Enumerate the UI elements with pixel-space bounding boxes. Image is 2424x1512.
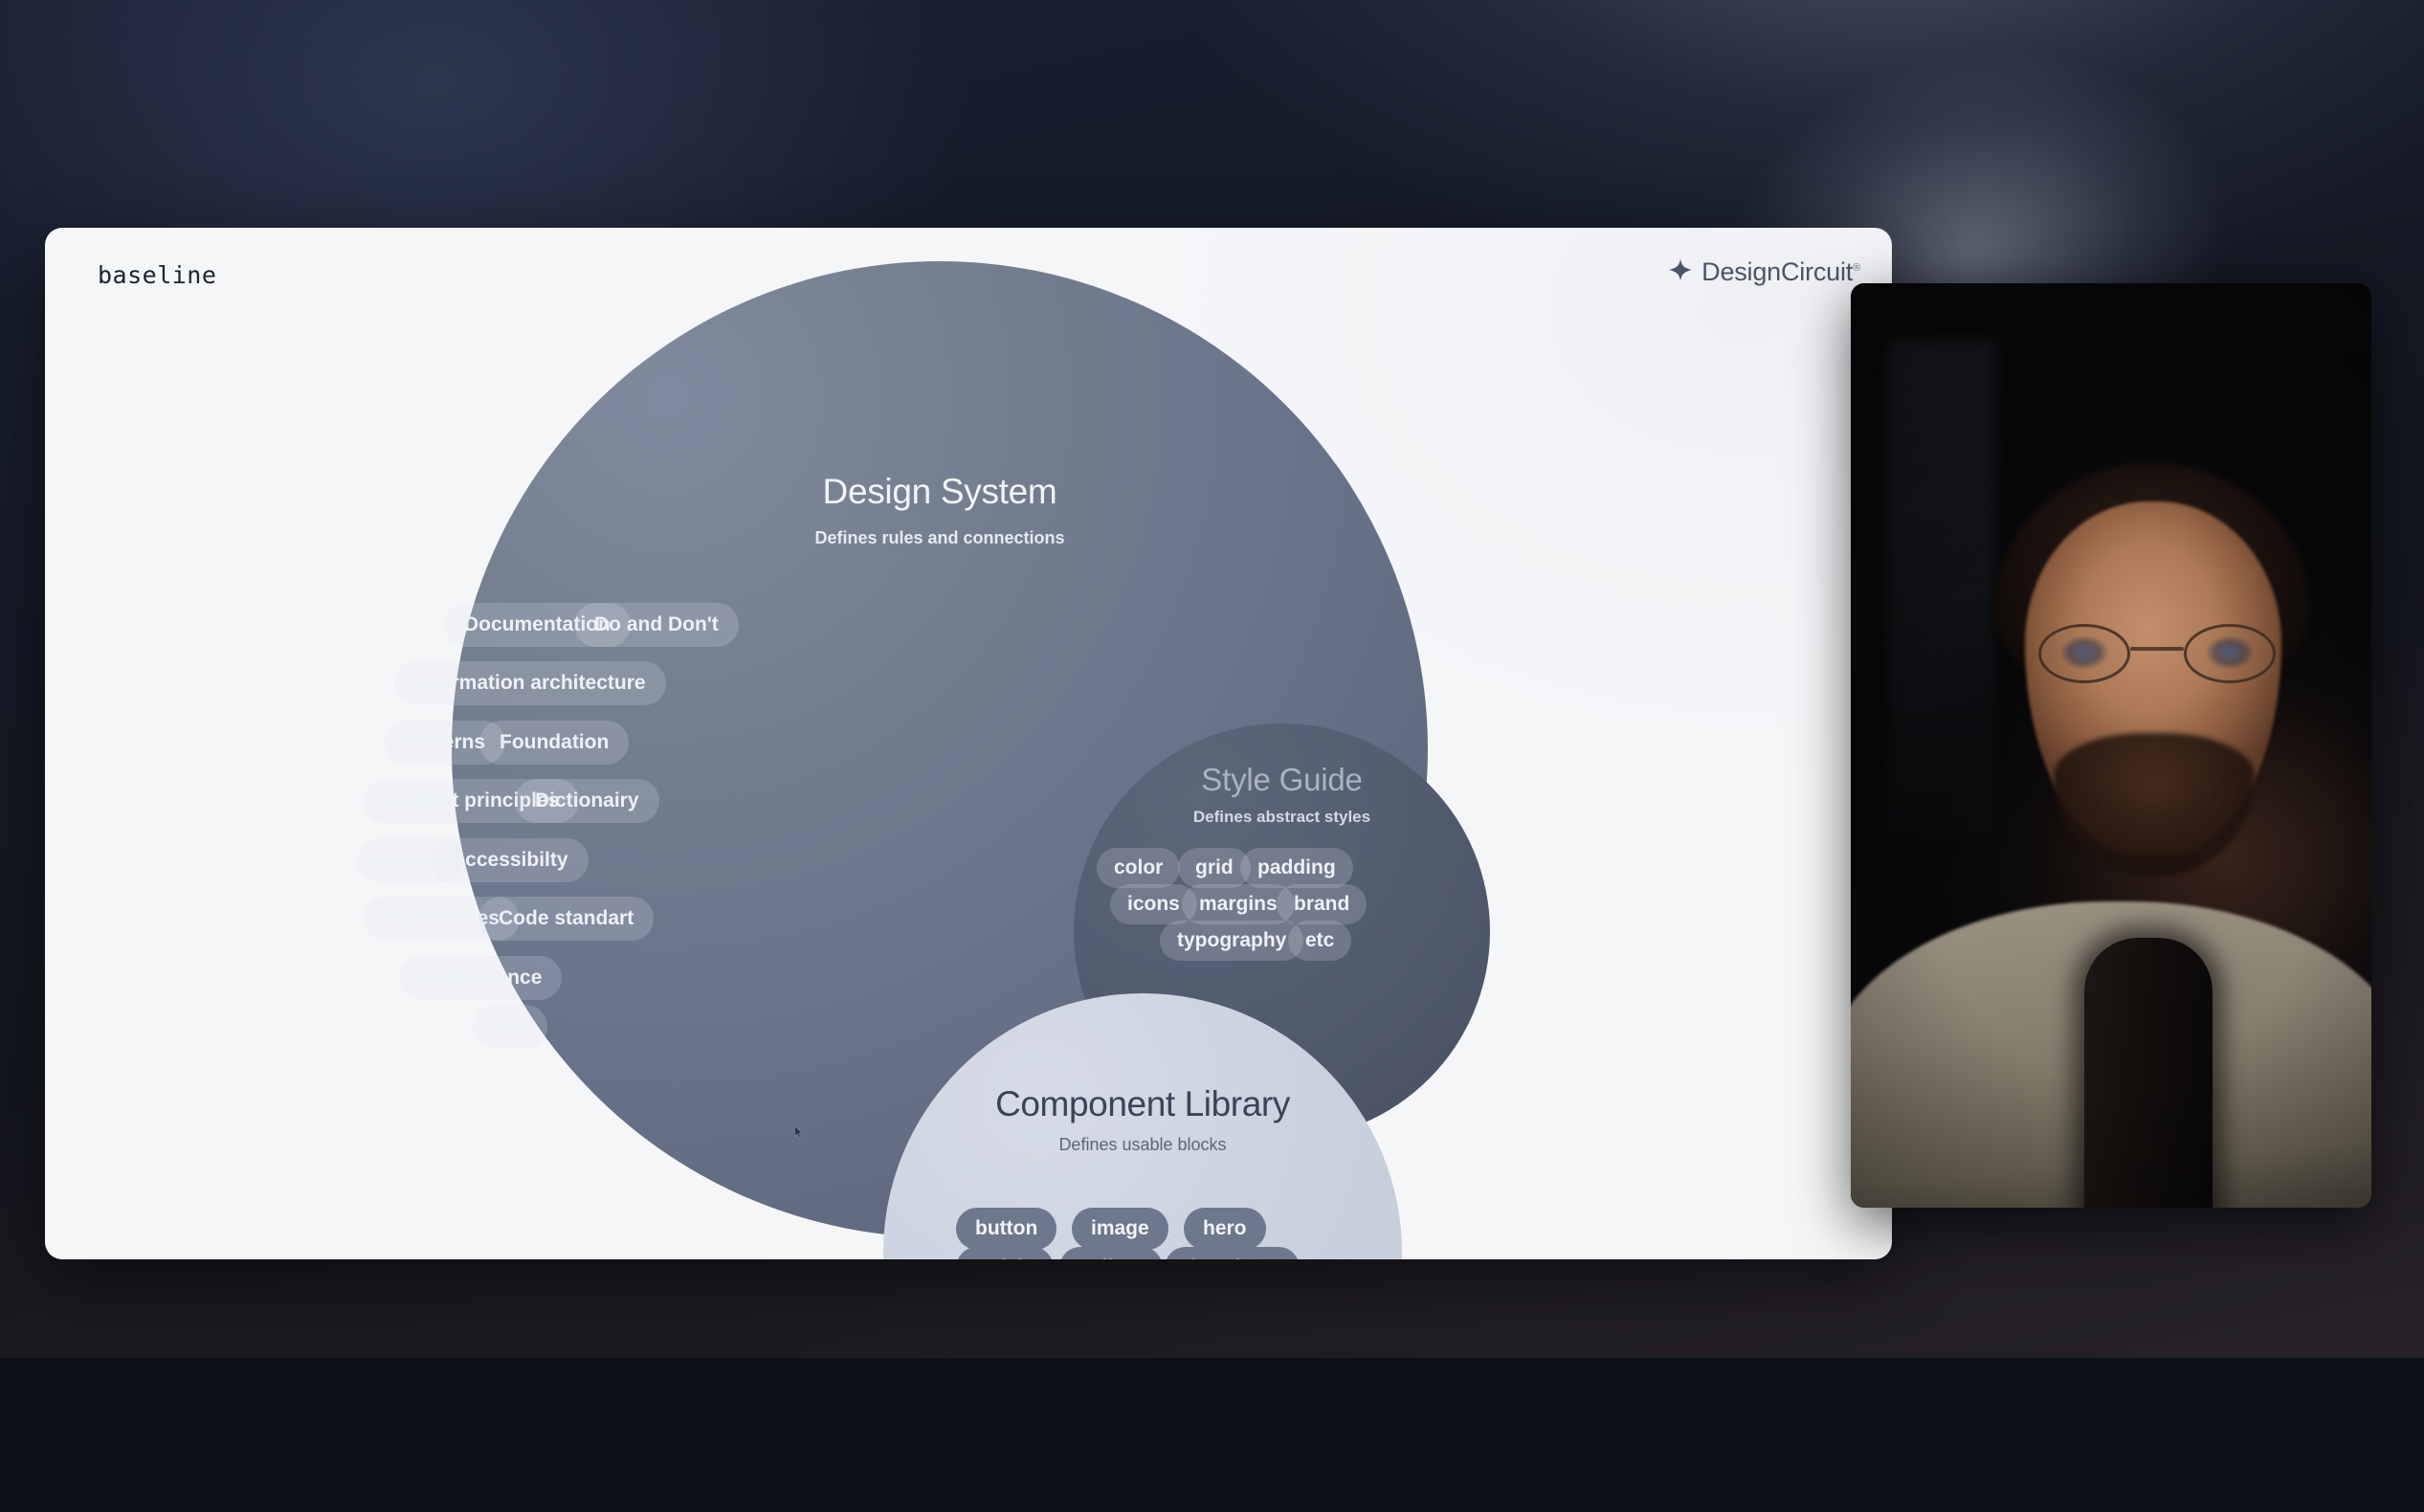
- webcam-vignette: [1851, 283, 2371, 1208]
- tag-hero[interactable]: hero: [1184, 1208, 1266, 1250]
- component-library-title: Component Library: [883, 1084, 1402, 1124]
- tag-code-standart[interactable]: Code standart: [478, 897, 654, 941]
- tag-accessibilty[interactable]: Accessibilty: [431, 838, 589, 882]
- tag-typography[interactable]: typography: [1160, 921, 1303, 961]
- brand-registered-mark: ®: [1853, 262, 1860, 274]
- design-system-subtitle: Defines rules and connections: [452, 528, 1428, 548]
- tag-performance[interactable]: Performance: [399, 956, 562, 1000]
- brand-logo: DesignCircuit®: [1668, 257, 1860, 287]
- component-library-subtitle: Defines usable blocks: [883, 1135, 1402, 1155]
- tag-dropdown[interactable]: dropdown: [1165, 1247, 1300, 1259]
- tag-article[interactable]: article: [956, 1247, 1054, 1259]
- tag-image[interactable]: image: [1072, 1208, 1168, 1250]
- tag-etc-sg[interactable]: etc: [1288, 921, 1351, 961]
- tag-foundation[interactable]: Foundation: [479, 721, 629, 765]
- presentation-slide: baseline DesignCircuit® Design System De…: [45, 228, 1892, 1259]
- tag-information-architecture[interactable]: Information architecture: [394, 661, 666, 705]
- tag-dictionairy[interactable]: Dictionairy: [515, 779, 659, 823]
- tag-etc[interactable]: etc.: [473, 1005, 547, 1049]
- slide-logo: baseline: [98, 261, 216, 289]
- tag-gallery[interactable]: gallery: [1059, 1247, 1163, 1259]
- style-guide-title: Style Guide: [1074, 762, 1490, 798]
- tag-brand[interactable]: brand: [1277, 884, 1367, 924]
- style-guide-subtitle: Defines abstract styles: [1074, 808, 1490, 827]
- tag-color[interactable]: color: [1097, 848, 1180, 888]
- brand-name: DesignCircuit®: [1701, 257, 1860, 287]
- presenter-webcam: [1851, 283, 2371, 1208]
- design-system-title: Design System: [452, 472, 1428, 512]
- tag-do-and-dont[interactable]: Do and Don't: [574, 603, 739, 647]
- tag-button[interactable]: button: [956, 1208, 1056, 1250]
- tag-padding[interactable]: padding: [1240, 848, 1353, 888]
- brand-name-text: DesignCircuit: [1701, 257, 1853, 286]
- sparkle-icon: [1668, 257, 1693, 287]
